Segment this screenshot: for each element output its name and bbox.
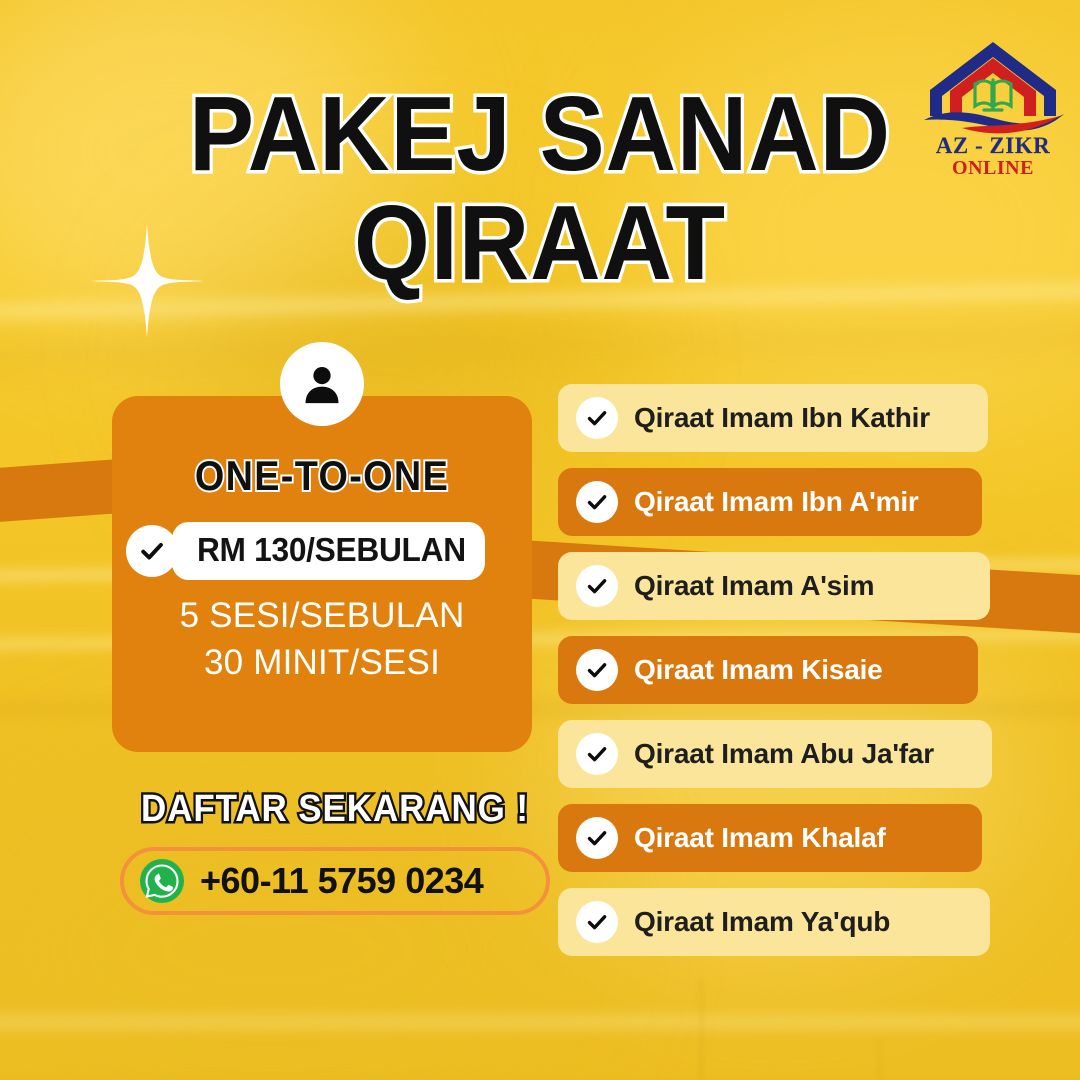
package-detail-1: 5 SESI/SEBULAN xyxy=(112,594,532,639)
person-icon xyxy=(280,342,364,426)
check-icon xyxy=(576,901,618,943)
check-icon xyxy=(576,733,618,775)
house-with-open-book-icon xyxy=(918,28,1068,140)
list-item: Qiraat Imam A'sim xyxy=(558,552,990,620)
list-item: Qiraat Imam Ya'qub xyxy=(558,888,990,956)
call-to-action: DAFTAR SEKARANG ! +60-11 5759 0234 xyxy=(120,788,550,915)
qiraat-checklist: Qiraat Imam Ibn Kathir Qiraat Imam Ibn A… xyxy=(558,384,990,972)
list-item-label: Qiraat Imam Khalaf xyxy=(634,822,886,854)
list-item: Qiraat Imam Abu Ja'far xyxy=(558,720,992,788)
logo-name: AZ - ZIKR xyxy=(918,134,1068,157)
whatsapp-icon xyxy=(138,857,186,905)
cta-headline: DAFTAR SEKARANG ! xyxy=(137,788,533,831)
poster-canvas: AZ - ZIKR ONLINE PAKEJ SANAD QIRAAT ONE-… xyxy=(0,0,1080,1080)
brand-logo: AZ - ZIKR ONLINE xyxy=(918,28,1068,180)
background-seam xyxy=(878,1040,881,1080)
package-heading: ONE-TO-ONE xyxy=(133,452,511,500)
list-item-label: Qiraat Imam Ya'qub xyxy=(634,906,890,938)
logo-subtitle: ONLINE xyxy=(918,157,1068,180)
list-item: Qiraat Imam Ibn Kathir xyxy=(558,384,988,452)
list-item-label: Qiraat Imam Ibn A'mir xyxy=(634,486,919,518)
check-icon xyxy=(576,481,618,523)
list-item-label: Qiraat Imam A'sim xyxy=(634,570,874,602)
list-item: Qiraat Imam Ibn A'mir xyxy=(558,468,982,536)
package-detail-2: 30 MINIT/SESI xyxy=(112,641,532,686)
check-icon xyxy=(576,397,618,439)
price-label: RM 130/SEBULAN xyxy=(172,522,485,580)
list-item: Qiraat Imam Kisaie xyxy=(558,636,978,704)
list-item-label: Qiraat Imam Abu Ja'far xyxy=(634,738,934,770)
list-item-label: Qiraat Imam Ibn Kathir xyxy=(634,402,930,434)
list-item: Qiraat Imam Khalaf xyxy=(558,804,982,872)
check-icon xyxy=(576,817,618,859)
phone-number: +60-11 5759 0234 xyxy=(200,860,483,902)
check-icon xyxy=(126,525,178,577)
background-seam xyxy=(700,980,703,1080)
package-card: ONE-TO-ONE RM 130/SEBULAN 5 SESI/SEBULAN… xyxy=(112,396,532,752)
phone-contact-button[interactable]: +60-11 5759 0234 xyxy=(120,847,550,915)
check-icon xyxy=(576,649,618,691)
list-item-label: Qiraat Imam Kisaie xyxy=(634,654,883,686)
check-icon xyxy=(576,565,618,607)
price-row: RM 130/SEBULAN xyxy=(112,522,532,580)
